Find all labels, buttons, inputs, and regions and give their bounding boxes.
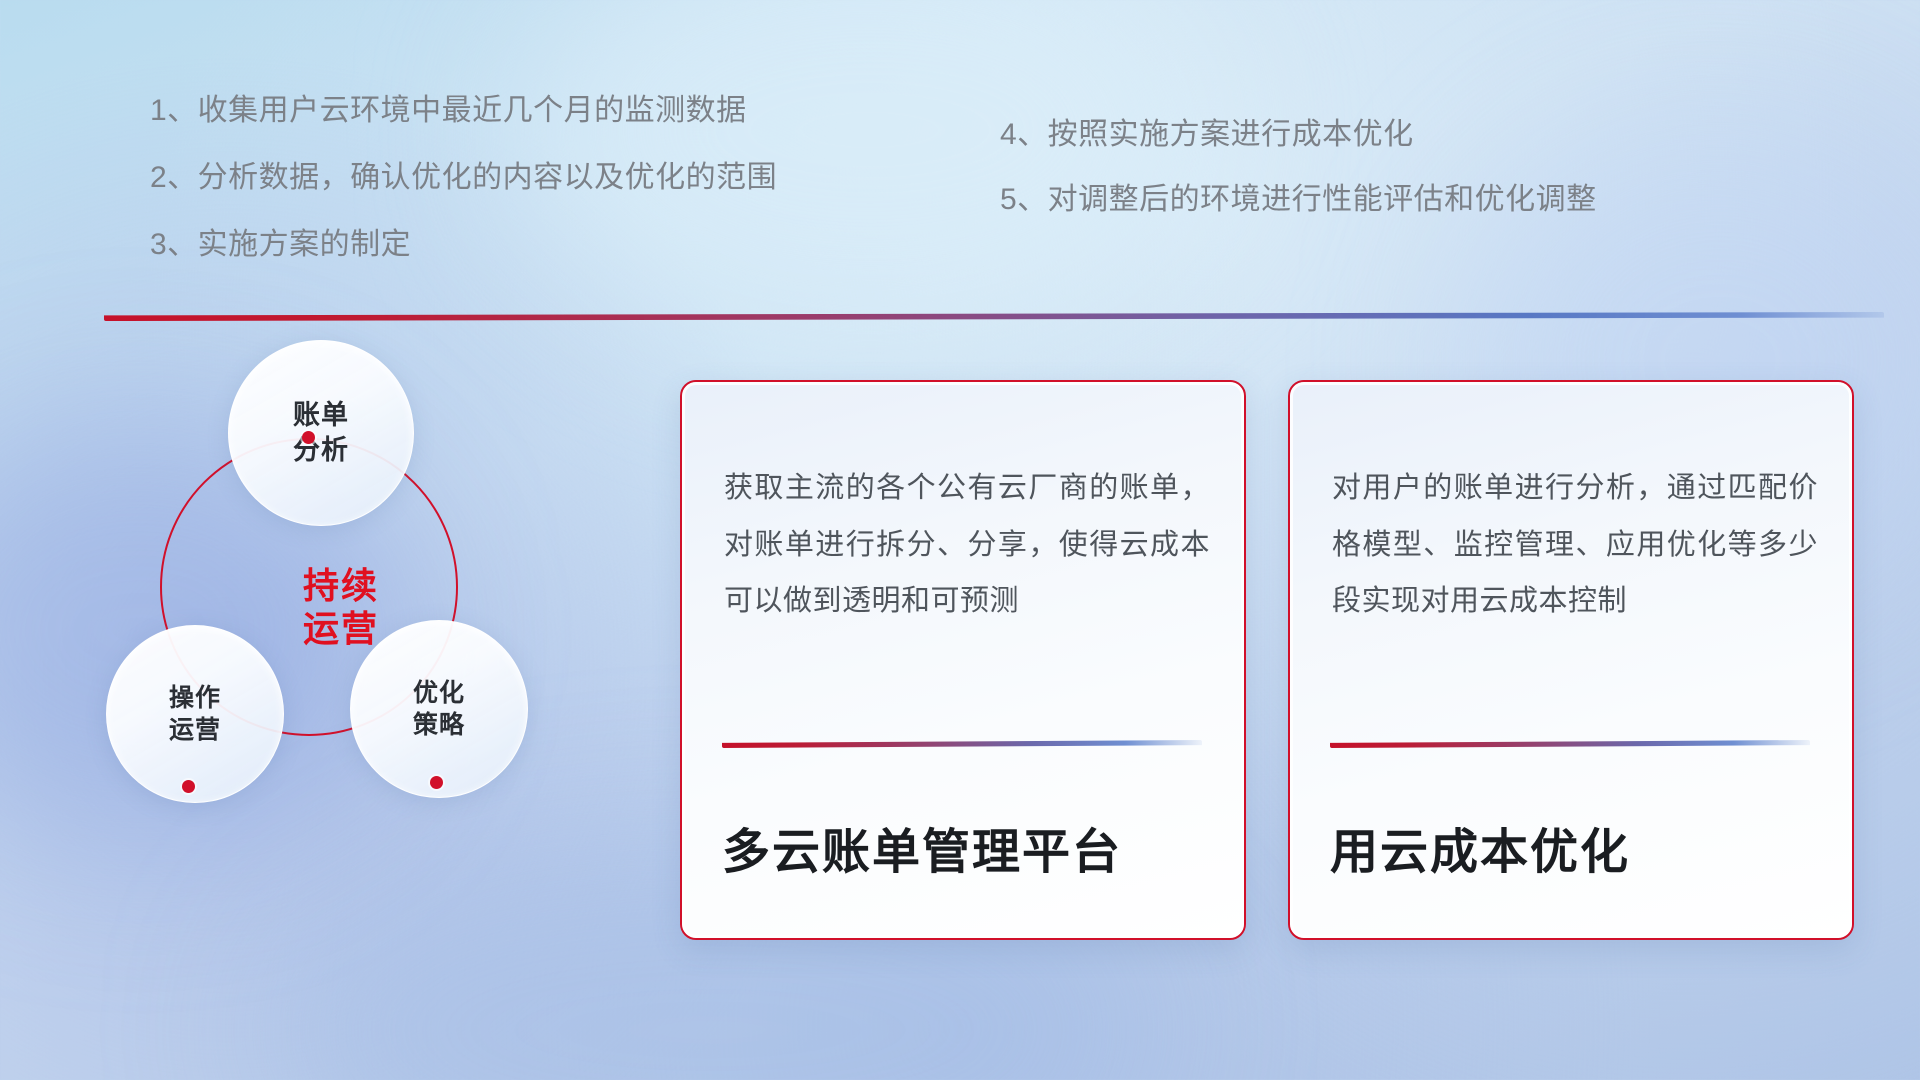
info-card-multi-cloud-billing-platform[interactable]: 获取主流的各个公有云厂商的账单，对账单进行拆分、分享，使得云成本可以做到透明和可… <box>680 380 1246 940</box>
steps-section: 1、收集用户云环境中最近几个月的监测数据 2、分析数据，确认优化的内容以及优化的… <box>0 0 1920 300</box>
diagram-center-label: 持续 运营 <box>303 564 379 650</box>
info-card-divider <box>1330 740 1810 748</box>
info-card-title: 多云账单管理平台 <box>722 812 1214 882</box>
info-card-body: 对用户的账单进行分析，通过匹配价格模型、监控管理、应用优化等多少段实现对用云成本… <box>1332 460 1818 630</box>
continuous-operation-diagram: 账单 分析 操作 运营 优化 策略 持续 运营 <box>100 350 600 920</box>
info-card-body: 获取主流的各个公有云厂商的账单，对账单进行拆分、分享，使得云成本可以做到透明和可… <box>724 460 1210 630</box>
diagram-node-dot-right <box>430 776 443 789</box>
step-item-1: 1、收集用户云环境中最近几个月的监测数据 <box>150 96 777 126</box>
steps-right-column: 4、按照实施方案进行成本优化 5、对调整后的环境进行性能评估和优化调整 <box>1000 120 1597 250</box>
section-divider <box>104 312 1884 321</box>
diagram-node-dot-left <box>182 780 195 793</box>
info-card-divider <box>722 740 1202 748</box>
info-card-cloud-cost-optimization[interactable]: 对用户的账单进行分析，通过匹配价格模型、监控管理、应用优化等多少段实现对用云成本… <box>1288 380 1854 940</box>
steps-left-column: 1、收集用户云环境中最近几个月的监测数据 2、分析数据，确认优化的内容以及优化的… <box>150 96 777 297</box>
diagram-center: 持续 运营 <box>160 438 458 736</box>
step-item-4: 4、按照实施方案进行成本优化 <box>1000 120 1597 150</box>
step-item-3: 3、实施方案的制定 <box>150 230 777 260</box>
step-item-5: 5、对调整后的环境进行性能评估和优化调整 <box>1000 185 1597 215</box>
info-card-title: 用云成本优化 <box>1330 812 1822 882</box>
step-item-2: 2、分析数据，确认优化的内容以及优化的范围 <box>150 163 777 193</box>
